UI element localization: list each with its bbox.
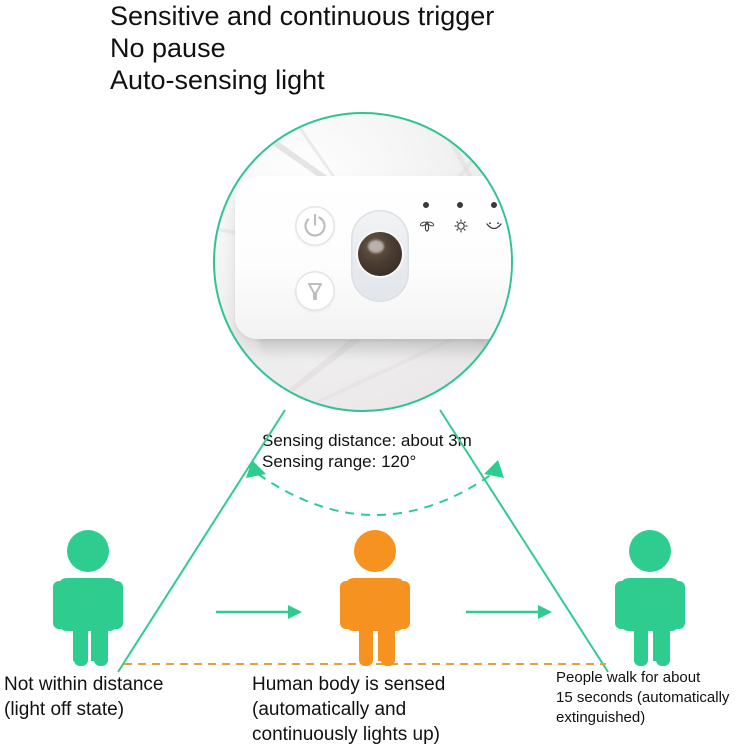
caption-right-line-1: People walk for about	[556, 668, 750, 688]
indicator-dot	[423, 202, 429, 208]
feature-icon-row	[421, 202, 513, 252]
headline-line-1: Sensitive and continuous trigger	[110, 0, 670, 32]
pir-sensor-dome	[358, 232, 402, 276]
headline-line-3: Auto-sensing light	[110, 64, 670, 96]
mosquito-icon	[419, 218, 435, 237]
caption-middle: Human body is sensed (automatically and …	[252, 672, 522, 747]
sensing-distance-label: Sensing distance: about 3m	[262, 430, 472, 451]
smile-icon	[485, 218, 503, 237]
sensing-range-label: Sensing range: 120°	[262, 451, 472, 472]
caption-middle-line-2: (automatically and	[252, 697, 522, 722]
person-center	[340, 530, 410, 666]
bulb-icon	[295, 271, 335, 311]
indicator-dot	[491, 202, 497, 208]
person-left	[53, 530, 123, 666]
indicator-dot	[457, 202, 463, 208]
diagram-root: Sensitive and continuous trigger No paus…	[0, 0, 750, 750]
caption-left: Not within distance (light off state)	[4, 672, 244, 722]
caption-right-line-3: extinguished)	[556, 708, 750, 728]
sensing-spec-text: Sensing distance: about 3m Sensing range…	[262, 430, 472, 472]
person-right	[615, 530, 685, 666]
caption-middle-line-3: continuously lights up)	[252, 722, 522, 747]
pir-sensor-window	[351, 210, 409, 302]
power-icon	[295, 206, 335, 246]
walk-arrow-2	[466, 605, 552, 619]
product-callout-circle	[213, 112, 513, 412]
walk-arrow-1	[216, 605, 302, 619]
caption-middle-line-1: Human body is sensed	[252, 672, 522, 697]
power-button[interactable]	[295, 206, 335, 246]
headline-block: Sensitive and continuous trigger No paus…	[110, 0, 670, 96]
caption-left-line-2: (light off state)	[4, 697, 244, 722]
gear-icon	[453, 218, 469, 237]
caption-right-line-2: 15 seconds (automatically	[556, 688, 750, 708]
headline-line-2: No pause	[110, 32, 670, 64]
product-photo	[213, 112, 513, 412]
sensor-light-device	[235, 176, 513, 339]
mode-button[interactable]	[295, 271, 335, 311]
caption-right: People walk for about 15 seconds (automa…	[556, 668, 750, 728]
caption-left-line-1: Not within distance	[4, 672, 244, 697]
